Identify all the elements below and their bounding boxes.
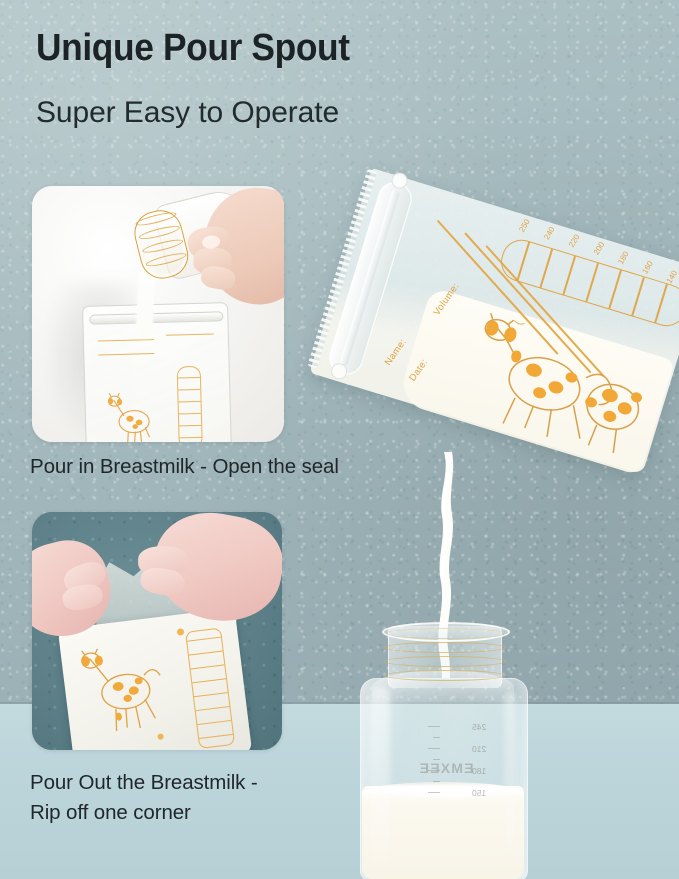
storage-bag-step1 — [82, 302, 232, 442]
giraffe-graphic-step2 — [75, 640, 177, 737]
bottle-tick — [428, 770, 440, 771]
page-subtitle: Super Easy to Operate — [36, 96, 339, 130]
bottle-measure-mark: 180 — [472, 766, 486, 776]
scale-number: 220 — [567, 233, 582, 249]
bottle-measure-mark: 245 — [472, 722, 486, 732]
bottle-tick — [433, 737, 440, 738]
bottle-highlight-left — [370, 686, 390, 866]
scale-number: 160 — [640, 259, 655, 275]
bag-zipper-seal — [89, 311, 223, 325]
giraffe-graphic-step1 — [103, 391, 166, 442]
bag-name-line — [98, 339, 154, 342]
print-dot — [157, 733, 164, 740]
glass-baby-bottle: EMXEE 245 210 180 150 — [354, 626, 532, 879]
scale-number: 250 — [517, 218, 532, 234]
bag-measure-scale — [177, 366, 203, 442]
page-title: Unique Pour Spout — [36, 27, 350, 70]
bottle-tick — [428, 726, 440, 727]
scale-number: 200 — [592, 240, 607, 256]
scale-number: 180 — [616, 250, 631, 266]
bag-volume-line — [166, 333, 214, 336]
step-2-image — [32, 512, 282, 750]
print-dot — [177, 628, 185, 636]
infographic-canvas: Unique Pour Spout Super Easy to Operate — [0, 0, 679, 879]
bottle-tick — [433, 759, 440, 760]
bottle-tick — [428, 748, 440, 749]
bag-measure-scale — [185, 628, 235, 750]
bottle-rim — [382, 622, 510, 642]
step-1-image — [32, 186, 284, 442]
bag-field-name: Name: — [383, 337, 409, 368]
step-2-caption: Pour Out the Breastmilk - Rip off one co… — [30, 768, 258, 828]
bottle-thread-ring — [384, 670, 506, 681]
bottle-highlight-right — [504, 692, 516, 862]
bottle-tick — [433, 781, 440, 782]
scale-number: 240 — [542, 225, 557, 241]
bottle-measure-mark: 210 — [472, 744, 486, 754]
bottle-measure-mark: 150 — [472, 788, 486, 798]
bag-date-line — [98, 353, 154, 356]
step-1-caption: Pour in Breastmilk - Open the seal — [30, 452, 339, 482]
bottle-tick — [428, 792, 440, 793]
bottle-thread-ring — [384, 656, 506, 667]
bottle-thread-ring — [384, 642, 506, 653]
